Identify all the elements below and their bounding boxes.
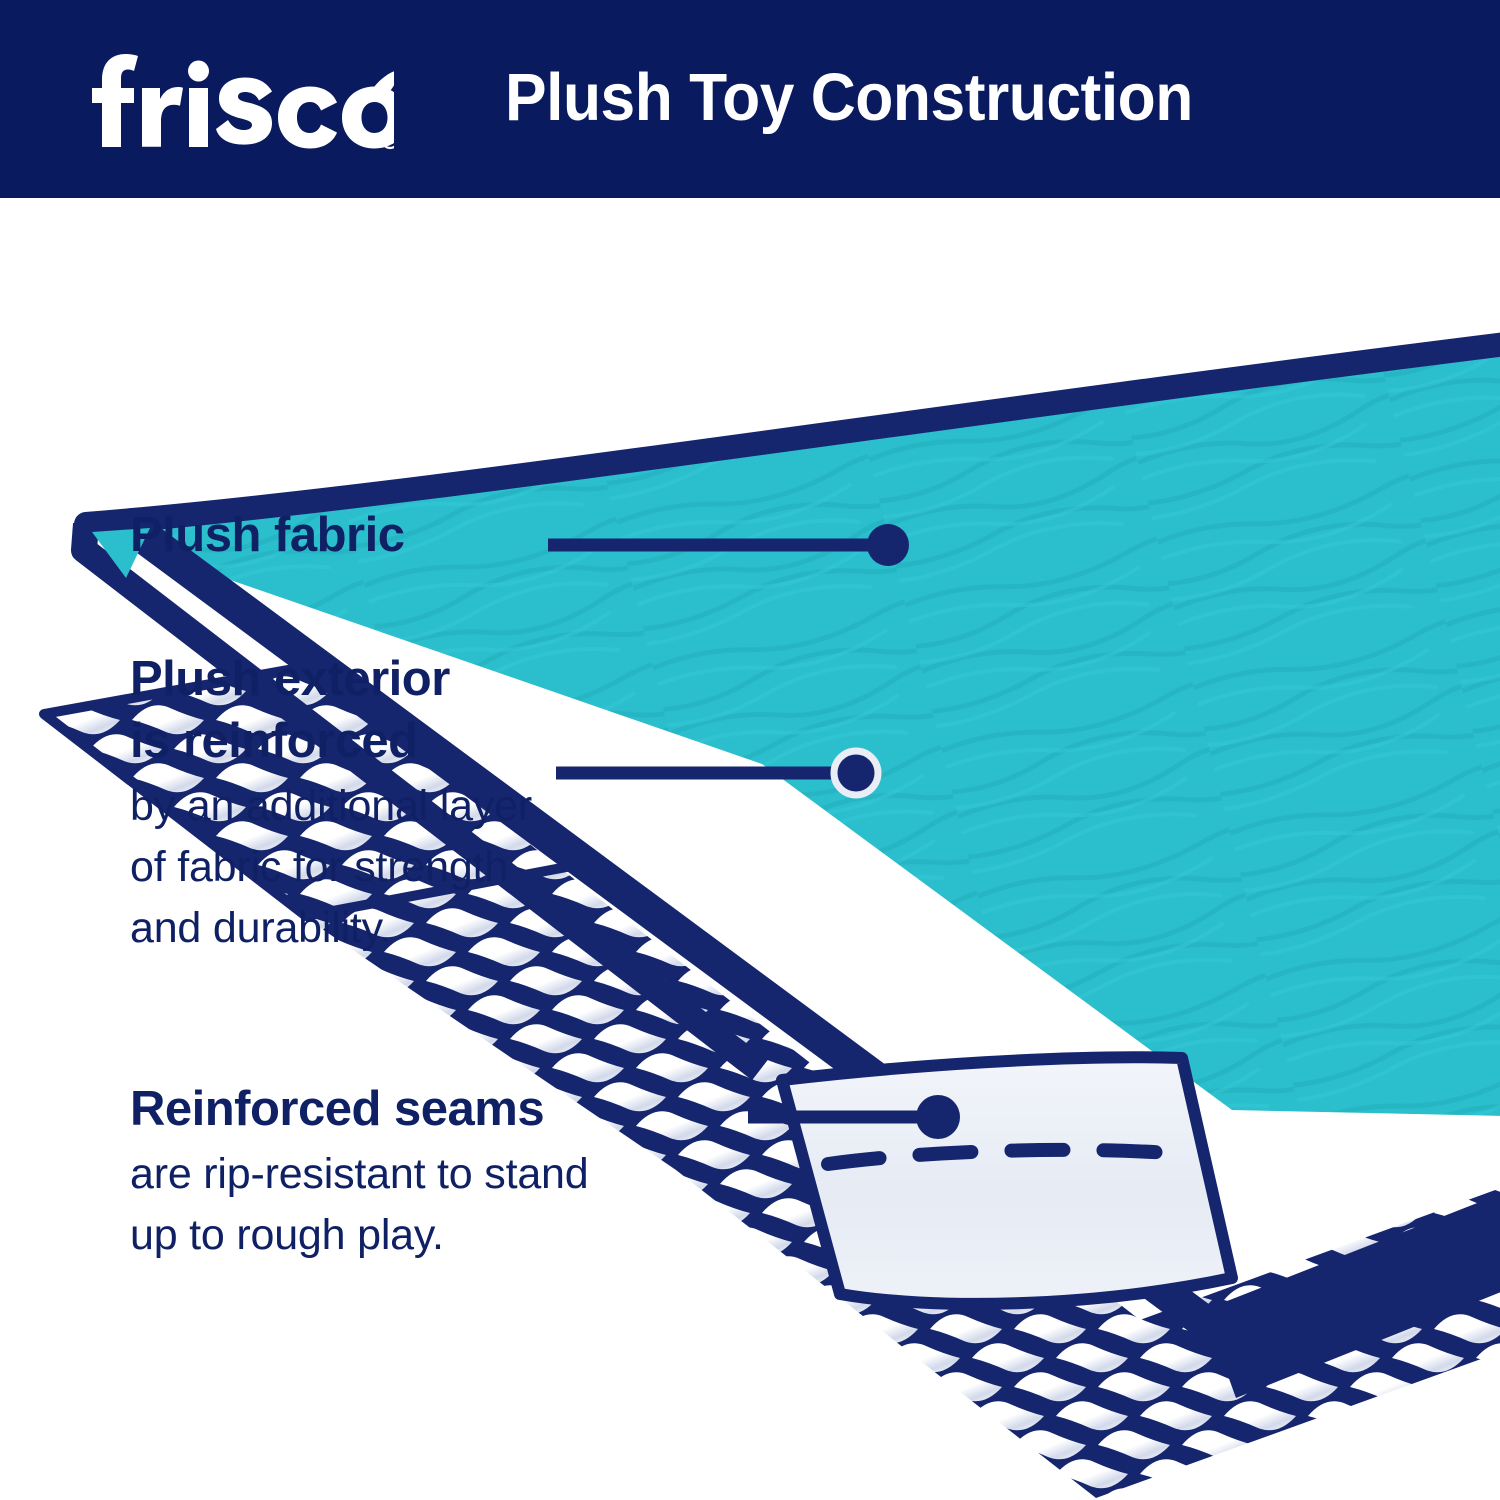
- callout-plush-exterior-heading: Plush exterior is reinforced: [130, 648, 730, 772]
- callout-reinforced-seams: Reinforced seams are rip-resistant to st…: [130, 1078, 810, 1266]
- callout-plush-exterior: Plush exterior is reinforced by an addit…: [130, 648, 730, 959]
- frisco-wordmark-logo: R: [74, 44, 394, 152]
- page-title: Plush Toy Construction: [505, 46, 1342, 150]
- infographic-canvas: R Plush Toy Construction: [0, 0, 1500, 1500]
- callout-plush-exterior-body: by an additional layer of fabric for str…: [130, 776, 730, 959]
- leader-dot-reinforced-seams: [916, 1095, 960, 1139]
- callout-reinforced-seams-heading: Reinforced seams: [130, 1078, 810, 1140]
- leader-dot-plush-fabric: [867, 524, 909, 566]
- header-bar: R Plush Toy Construction: [0, 0, 1500, 198]
- svg-text:R: R: [387, 136, 394, 147]
- callout-plush-fabric: Plush fabric: [130, 504, 560, 566]
- callout-plush-fabric-heading: Plush fabric: [130, 504, 560, 566]
- callout-reinforced-seams-body: are rip-resistant to stand up to rough p…: [130, 1144, 810, 1266]
- seam-flap-with-stitching: [782, 1057, 1232, 1304]
- leader-dot-plush-exterior: [834, 751, 878, 795]
